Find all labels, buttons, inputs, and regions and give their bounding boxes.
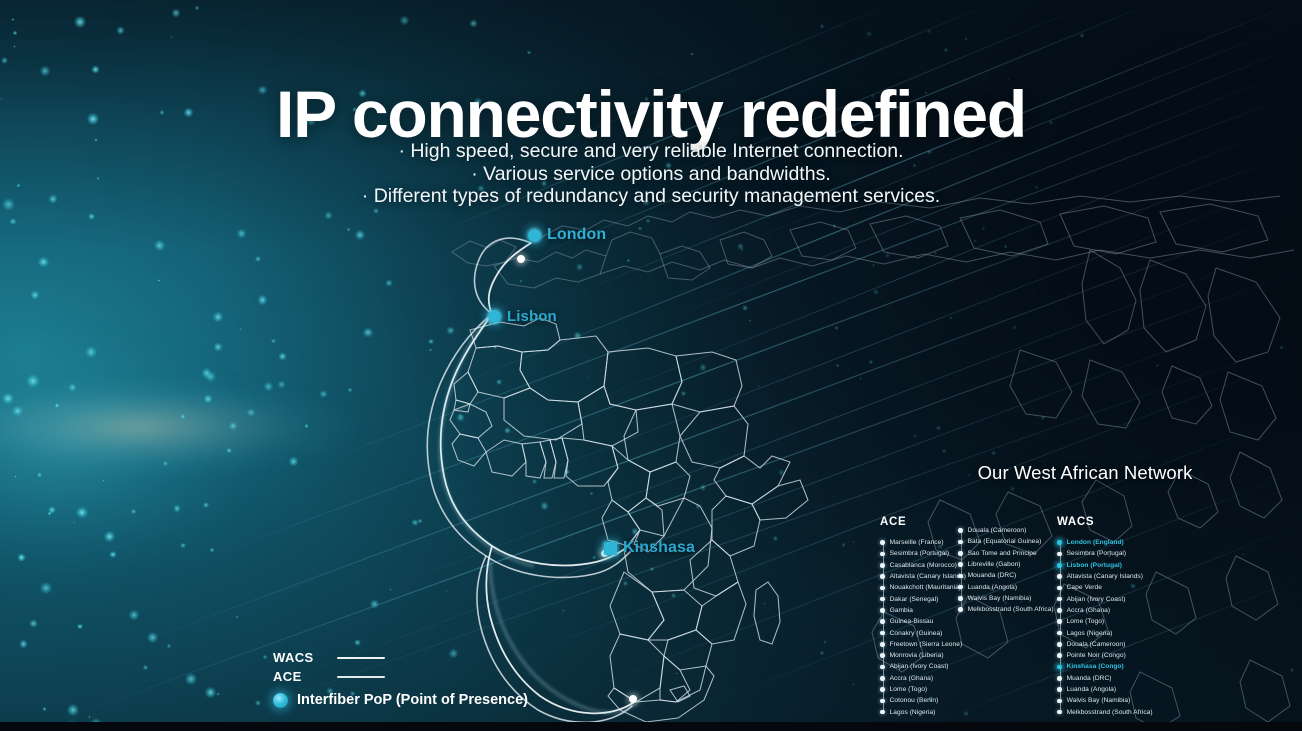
network-pop-label: Pointe Noir (Congo) xyxy=(1067,652,1126,659)
hero-bullet-3: · Different types of redundancy and secu… xyxy=(0,185,1302,208)
pop-marker-icon xyxy=(1057,540,1062,545)
network-pop-item[interactable]: Melkbosstrand (South Africa) xyxy=(1057,706,1177,717)
network-pop-label: Walvis Bay (Namibia) xyxy=(968,595,1032,602)
network-pop-label: Abijan (Ivory Coast) xyxy=(1067,596,1126,603)
network-pop-label: Lome (Togo) xyxy=(890,686,928,693)
network-panel-title: Our West African Network xyxy=(880,462,1290,484)
network-pop-label: Douala (Cameroon) xyxy=(968,527,1027,534)
network-pop-item[interactable]: Freetown (Sierra Leone) xyxy=(880,639,972,650)
network-pop-label: Lagos (Nigeria) xyxy=(1067,630,1113,637)
network-pop-item[interactable]: Sesimbra (Portugal) xyxy=(1057,548,1177,559)
network-pop-label: Sesimbra (Portugal) xyxy=(1067,550,1127,557)
pop-marker-icon xyxy=(958,607,963,612)
network-pop-item[interactable]: Walvis Bay (Namibia) xyxy=(1057,695,1177,706)
pop-dot-icon xyxy=(273,693,288,708)
pop-marker-icon xyxy=(958,574,963,579)
pop-marker-icon xyxy=(880,687,885,692)
legend-line-ace-icon xyxy=(337,676,385,678)
network-pop-item[interactable]: Abijan (Ivory Coast) xyxy=(880,661,972,672)
network-pop-label: Douala (Cameroon) xyxy=(1067,641,1126,648)
legend-label-pop: Interfiber PoP (Point of Presence) xyxy=(297,692,528,708)
network-pop-label: Monrovia (Liberia) xyxy=(890,652,944,659)
legend-row-wacs: WACS xyxy=(273,648,528,667)
network-pop-label: Luanda (Angola) xyxy=(968,584,1018,591)
map-pin-icon xyxy=(488,310,501,323)
pop-marker-icon xyxy=(1057,586,1062,591)
legend-line-wacs-icon xyxy=(337,657,385,659)
network-pop-label: Guinea-Bissau xyxy=(890,618,934,625)
network-pop-item[interactable]: Libreville (Gabon) xyxy=(958,559,1058,570)
pop-marker-icon xyxy=(1057,665,1062,670)
pop-marker-icon xyxy=(1057,687,1062,692)
map-city-kinshasa[interactable]: Kinshasa xyxy=(604,539,695,557)
network-pop-label: Gambia xyxy=(890,607,913,614)
pop-marker-icon xyxy=(880,597,885,602)
hero-bullets: · High speed, secure and very reliable I… xyxy=(0,140,1302,208)
network-pop-label: Cape Verde xyxy=(1067,584,1102,591)
network-pop-item[interactable]: Walvis Bay (Namibia) xyxy=(958,593,1058,604)
pop-marker-icon xyxy=(958,528,963,533)
pop-marker-icon xyxy=(1057,597,1062,602)
map-node-capetown xyxy=(629,695,637,703)
network-pop-item[interactable]: Mouanda (DRC) xyxy=(958,570,1058,581)
network-pop-item[interactable]: Abijan (Ivory Coast) xyxy=(1057,593,1177,604)
pop-marker-icon xyxy=(880,552,885,557)
network-column-ace-2: Douala (Cameroon)Bata (Equatorial Guinea… xyxy=(958,516,1058,615)
slide-canvas: IP connectivity redefined · High speed, … xyxy=(0,0,1302,731)
network-pop-label: Kinshasa (Congo) xyxy=(1067,663,1124,670)
network-pop-label: Nouakchott (Mauritania) xyxy=(890,584,962,591)
legend-label-ace: ACE xyxy=(273,669,323,684)
pop-marker-icon xyxy=(1057,676,1062,681)
pop-marker-icon xyxy=(880,540,885,545)
network-pop-label: Accra (Ghana) xyxy=(890,675,934,682)
map-pin-icon xyxy=(604,542,617,555)
pop-marker-icon xyxy=(958,540,963,545)
network-pop-label: Bata (Equatorial Guinea) xyxy=(968,538,1042,545)
network-pop-list: Douala (Cameroon)Bata (Equatorial Guinea… xyxy=(958,525,1058,615)
network-pop-label: Luanda (Angola) xyxy=(1067,686,1117,693)
map-city-lisbon[interactable]: Lisbon xyxy=(488,308,557,325)
network-pop-label: Lagos (Nigeria) xyxy=(890,709,936,716)
bottom-bar xyxy=(0,722,1302,731)
network-pop-item[interactable]: Lisbon (Portugal) xyxy=(1057,560,1177,571)
map-city-london[interactable]: London xyxy=(528,226,606,244)
network-pop-label: Sao Tome and Principe xyxy=(968,550,1037,557)
network-column-heading: WACS xyxy=(1057,516,1177,528)
network-pop-item[interactable]: Accra (Ghana) xyxy=(880,673,972,684)
network-pop-label: Lisbon (Portugal) xyxy=(1067,562,1122,569)
map-city-label: Lisbon xyxy=(507,308,557,325)
network-pop-label: Altavista (Canary Islands) xyxy=(890,573,966,580)
network-pop-item[interactable]: Monrovia (Liberia) xyxy=(880,650,972,661)
pop-marker-icon xyxy=(1057,710,1062,715)
pop-marker-icon xyxy=(880,710,885,715)
pop-marker-icon xyxy=(1057,631,1062,636)
network-pop-item[interactable]: Guinea-Bissau xyxy=(880,616,972,627)
map-city-label: London xyxy=(547,226,606,244)
pop-marker-icon xyxy=(958,585,963,590)
network-pop-item[interactable]: Luanda (Angola) xyxy=(958,581,1058,592)
map-pin-icon xyxy=(528,229,541,242)
network-pop-item[interactable]: London (England) xyxy=(1057,537,1177,548)
network-pop-list: London (England)Sesimbra (Portugal)Lisbo… xyxy=(1057,537,1177,718)
network-pop-item[interactable]: Lome (Togo) xyxy=(880,684,972,695)
pop-marker-icon xyxy=(880,574,885,579)
pop-marker-icon xyxy=(1057,619,1062,624)
network-pop-label: Dakar (Senegal) xyxy=(890,596,939,603)
network-pop-label: Abijan (Ivory Coast) xyxy=(890,663,949,670)
network-pop-label: London (England) xyxy=(1067,539,1124,546)
map-node-france xyxy=(517,255,525,263)
pop-marker-icon xyxy=(958,596,963,601)
network-pop-label: Freetown (Sierra Leone) xyxy=(890,641,963,648)
network-pop-item[interactable]: Cape Verde xyxy=(1057,582,1177,593)
pop-marker-icon xyxy=(880,642,885,647)
network-pop-item[interactable]: Sao Tome and Principe xyxy=(958,548,1058,559)
network-pop-label: Conakry (Guinea) xyxy=(890,630,943,637)
hero-bullet-2: · Various service options and bandwidths… xyxy=(0,163,1302,186)
pop-marker-icon xyxy=(958,551,963,556)
network-pop-label: Accra (Ghana) xyxy=(1067,607,1111,614)
network-panel: Our West African Network ACE Marseille (… xyxy=(880,462,1290,516)
network-pop-label: Mouanda (DRC) xyxy=(968,572,1017,579)
network-pop-item[interactable]: Melkbosstrand (South Africa) xyxy=(958,604,1058,615)
network-pop-item[interactable]: Conakry (Guinea) xyxy=(880,627,972,638)
network-pop-label: Altavista (Canary Islands) xyxy=(1067,573,1143,580)
network-pop-label: Melkbosstrand (South Africa) xyxy=(1067,709,1153,716)
legend-row-pop: Interfiber PoP (Point of Presence) xyxy=(273,692,528,708)
pop-marker-icon xyxy=(1057,563,1062,568)
pop-marker-icon xyxy=(1057,608,1062,613)
network-pop-label: Marseille (France) xyxy=(890,539,944,546)
network-pop-label: Muanda (DRC) xyxy=(1067,675,1112,682)
network-pop-item[interactable]: Cotonou (Benin) xyxy=(880,695,972,706)
network-pop-item[interactable]: Muanda (DRC) xyxy=(1057,673,1177,684)
network-pop-item[interactable]: Douala (Cameroon) xyxy=(1057,639,1177,650)
network-pop-item[interactable]: Lagos (Nigeria) xyxy=(880,706,972,717)
network-pop-label: Lome (Togo) xyxy=(1067,618,1105,625)
network-pop-item[interactable]: Pointe Noir (Congo) xyxy=(1057,650,1177,661)
pop-marker-icon xyxy=(1057,574,1062,579)
pop-marker-icon xyxy=(880,608,885,613)
network-pop-label: Walvis Bay (Namibia) xyxy=(1067,697,1131,704)
pop-marker-icon xyxy=(880,563,885,568)
network-pop-item[interactable]: Kinshasa (Congo) xyxy=(1057,661,1177,672)
network-pop-item[interactable]: Lome (Togo) xyxy=(1057,616,1177,627)
network-pop-item[interactable]: Lagos (Nigeria) xyxy=(1057,627,1177,638)
pop-marker-icon xyxy=(1057,642,1062,647)
hero-bullet-1: · High speed, secure and very reliable I… xyxy=(0,140,1302,163)
network-pop-item[interactable]: Altavista (Canary Islands) xyxy=(1057,571,1177,582)
network-pop-item[interactable]: Douala (Cameroon) xyxy=(958,525,1058,536)
network-pop-item[interactable]: Luanda (Angola) xyxy=(1057,684,1177,695)
map-legend: WACS ACE Interfiber PoP (Point of Presen… xyxy=(273,648,528,708)
network-pop-label: Melkbosstrand (South Africa) xyxy=(968,606,1054,613)
pop-marker-icon xyxy=(1057,699,1062,704)
pop-marker-icon xyxy=(1057,552,1062,557)
pop-marker-icon xyxy=(880,699,885,704)
legend-row-ace: ACE xyxy=(273,667,528,686)
pop-marker-icon xyxy=(880,619,885,624)
pop-marker-icon xyxy=(880,665,885,670)
pop-marker-icon xyxy=(958,562,963,567)
map-city-label: Kinshasa xyxy=(623,539,695,557)
legend-label-wacs: WACS xyxy=(273,650,323,665)
network-column-wacs: WACS London (England)Sesimbra (Portugal)… xyxy=(1057,516,1177,718)
network-pop-label: Sesimbra (Portugal) xyxy=(890,550,950,557)
network-pop-item[interactable]: Bata (Equatorial Guinea) xyxy=(958,536,1058,547)
pop-marker-icon xyxy=(880,631,885,636)
pop-marker-icon xyxy=(880,653,885,658)
pop-marker-icon xyxy=(880,586,885,591)
network-pop-label: Cotonou (Benin) xyxy=(890,697,939,704)
network-pop-label: Libreville (Gabon) xyxy=(968,561,1021,568)
pop-marker-icon xyxy=(880,676,885,681)
network-pop-item[interactable]: Accra (Ghana) xyxy=(1057,605,1177,616)
pop-marker-icon xyxy=(1057,653,1062,658)
network-pop-label: Casablanca (Morocco) xyxy=(890,562,957,569)
